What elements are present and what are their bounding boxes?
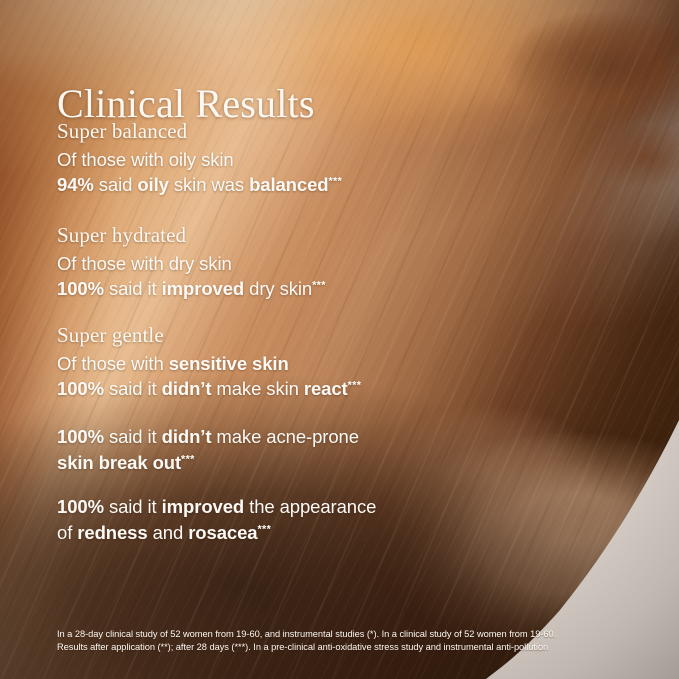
footnote-marker: ***	[328, 176, 342, 188]
footnote-line-1: In a 28-day clinical study of 52 women f…	[57, 628, 637, 641]
content-area: Clinical Results Super balanced Of those…	[0, 0, 679, 679]
result-block-acne: 100% said it didn’t make acne-prone skin…	[57, 424, 359, 475]
result-line: skin break out***	[57, 450, 359, 476]
footnote: In a 28-day clinical study of 52 women f…	[57, 628, 637, 654]
result-line: 94% said oily skin was balanced***	[57, 172, 342, 198]
result-line: 100% said it improved dry skin***	[57, 276, 326, 302]
result-line: 100% said it didn’t make acne-prone	[57, 424, 359, 450]
footnote-marker: ***	[348, 380, 362, 392]
clinical-results-card: Clinical Results Super balanced Of those…	[0, 0, 679, 679]
result-heading: Super gentle	[57, 322, 361, 350]
footnote-marker: ***	[257, 523, 271, 535]
result-line: Of those with oily skin	[57, 147, 342, 173]
result-block-hydrated: Super hydrated Of those with dry skin 10…	[57, 222, 326, 302]
footnote-line-2: Results after application (**); after 28…	[57, 641, 637, 654]
footnote-marker: ***	[181, 453, 195, 465]
result-line: Of those with sensitive skin	[57, 351, 361, 377]
result-line: 100% said it improved the appearance	[57, 494, 376, 520]
result-block-balanced: Super balanced Of those with oily skin 9…	[57, 118, 342, 198]
result-line: Of those with dry skin	[57, 251, 326, 277]
footnote-marker: ***	[312, 280, 326, 292]
result-line: 100% said it didn’t make skin react***	[57, 376, 361, 402]
result-heading: Super balanced	[57, 118, 342, 146]
result-block-redness: 100% said it improved the appearance of …	[57, 494, 376, 545]
result-heading: Super hydrated	[57, 222, 326, 250]
result-line: of redness and rosacea***	[57, 520, 376, 546]
result-block-gentle: Super gentle Of those with sensitive ski…	[57, 322, 361, 402]
